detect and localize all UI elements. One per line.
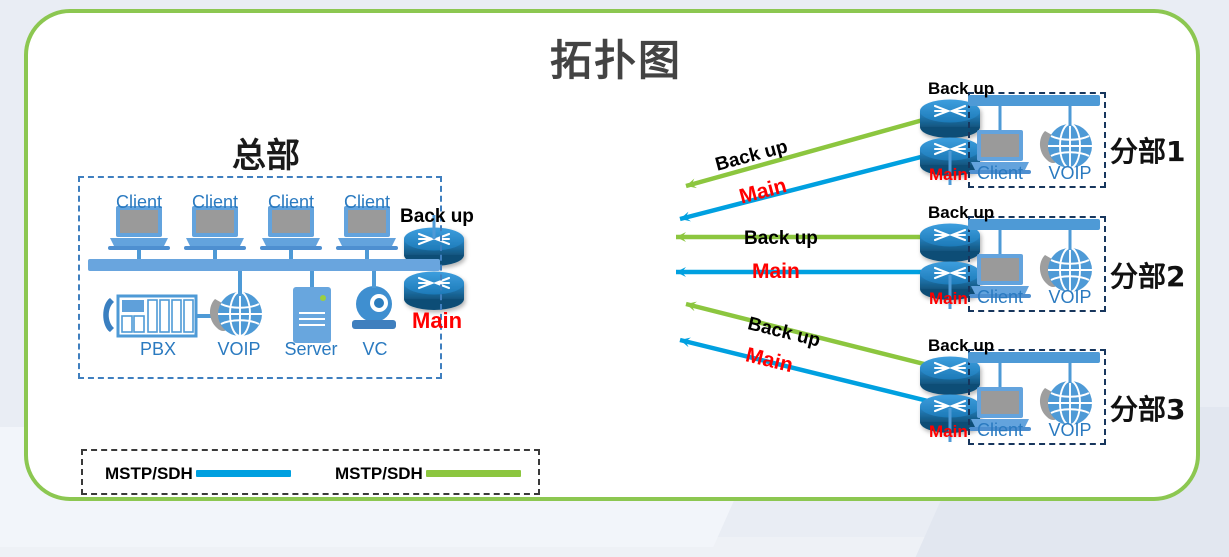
link-label-main-branch-2: Main <box>752 260 800 284</box>
branch-3-label-voip: VOIP <box>1042 421 1098 440</box>
legend-swatch-main <box>196 470 291 477</box>
link-label-backup-branch-2: Back up <box>744 228 818 250</box>
hq-label-client-4: Client <box>332 192 402 213</box>
legend: MSTP/SDH MSTP/SDH <box>81 449 540 495</box>
branch-2-router-main-label: Main <box>929 289 968 309</box>
branch-2-label-voip: VOIP <box>1042 288 1098 307</box>
hq-label-client-3: Client <box>256 192 326 213</box>
branch-3-router-backup-label: Back up <box>928 336 994 356</box>
branch-1-router-backup-label: Back up <box>928 79 994 99</box>
legend-label-1: MSTP/SDH <box>105 464 193 484</box>
branch-3-name: 分部3 <box>1110 388 1185 428</box>
hq-label-voip: VOIP <box>211 339 267 360</box>
hq-title: 总部 <box>186 128 346 177</box>
branch-1-label-voip: VOIP <box>1042 164 1098 183</box>
branch-1-name: 分部1 <box>1110 130 1185 170</box>
hq-label-client-2: Client <box>180 192 250 213</box>
hq-router-main-label: Main <box>412 308 462 334</box>
page-title: 拓扑图 <box>28 27 1204 88</box>
branch-1-label-client: Client <box>972 164 1028 183</box>
legend-swatch-backup <box>426 470 521 477</box>
branch-3-label-client: Client <box>972 421 1028 440</box>
hq-router-backup-label: Back up <box>400 206 474 228</box>
branch-3-router-main-label: Main <box>929 422 968 442</box>
branch-1-router-main-label: Main <box>929 165 968 185</box>
hq-label-client-1: Client <box>104 192 174 213</box>
hq-label-vc: VC <box>352 339 398 360</box>
branch-2-label-client: Client <box>972 288 1028 307</box>
hq-label-server: Server <box>278 339 344 360</box>
topology-diagram-canvas: 拓扑图 <box>0 0 1229 537</box>
hq-bus-bar <box>88 259 440 271</box>
branch-2-router-backup-label: Back up <box>928 203 994 223</box>
hq-label-pbx: PBX <box>122 339 194 360</box>
legend-label-2: MSTP/SDH <box>335 464 423 484</box>
branch-2-name: 分部2 <box>1110 255 1185 295</box>
